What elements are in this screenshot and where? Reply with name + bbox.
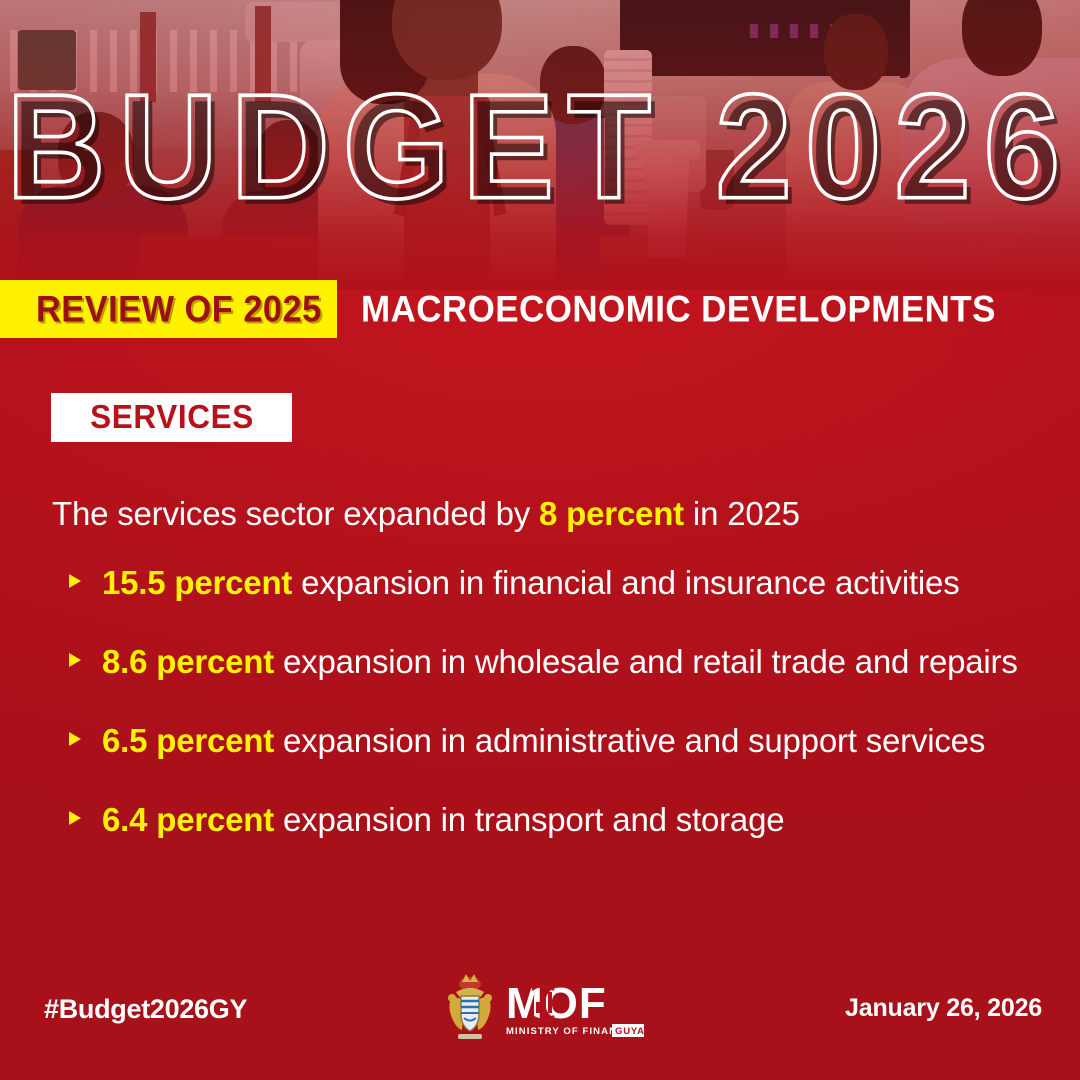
triangle-right-icon xyxy=(68,639,102,668)
footer-date: January 26, 2026 xyxy=(845,994,1042,1023)
list-item-highlight: 8.6 percent xyxy=(102,643,274,680)
footer: #Budget2026GY xyxy=(0,978,1080,1048)
list-item-body: expansion in financial and insurance act… xyxy=(292,564,959,601)
section-badge-label: SERVICES xyxy=(90,399,254,436)
list-item-body: expansion in transport and storage xyxy=(274,801,784,838)
mof-subtitle-guyana: GUYANA xyxy=(615,1026,644,1037)
triangle-right-icon xyxy=(68,718,102,747)
lede-highlight: 8 percent xyxy=(539,495,684,532)
list-item: 8.6 percent expansion in wholesale and r… xyxy=(68,639,1053,686)
lede-text-before: The services sector expanded by xyxy=(52,495,539,532)
triangle-right-icon xyxy=(68,797,102,826)
mof-subtitle: MINISTRY OF FINANCE GUYANA xyxy=(506,1024,644,1037)
list-item: 6.5 percent expansion in administrative … xyxy=(68,718,1053,765)
list-item: 6.4 percent expansion in transport and s… xyxy=(68,797,1053,844)
mof-wordmark: MOF xyxy=(506,979,607,1028)
bullet-list: 15.5 percent expansion in financial and … xyxy=(68,560,1053,875)
list-item: 15.5 percent expansion in financial and … xyxy=(68,560,1053,607)
budget-infographic-poster: BUDGET 2026 REVIEW OF 2025 MACROECONOMIC… xyxy=(0,0,1080,1080)
ministry-of-finance-logo: MOF MINISTRY OF FINANCE GUYANA xyxy=(444,972,644,1054)
list-item-body: expansion in wholesale and retail trade … xyxy=(274,643,1018,680)
lede-text-after: in 2025 xyxy=(684,495,800,532)
section-badge: SERVICES xyxy=(51,393,292,442)
content-area: SERVICES The services sector expanded by… xyxy=(0,0,1080,1080)
list-item-text: 6.5 percent expansion in administrative … xyxy=(102,718,1053,765)
list-item-highlight: 15.5 percent xyxy=(102,564,292,601)
list-item-text: 15.5 percent expansion in financial and … xyxy=(102,560,1053,607)
list-item-text: 6.4 percent expansion in transport and s… xyxy=(102,797,1053,844)
svg-text:MOF: MOF xyxy=(506,979,607,1028)
triangle-right-icon xyxy=(68,560,102,589)
list-item-highlight: 6.4 percent xyxy=(102,801,274,838)
list-item-body: expansion in administrative and support … xyxy=(274,722,985,759)
list-item-text: 8.6 percent expansion in wholesale and r… xyxy=(102,639,1053,686)
hashtag-label: #Budget2026GY xyxy=(44,994,247,1025)
guyana-coat-of-arms-icon xyxy=(448,974,492,1039)
lede-paragraph: The services sector expanded by 8 percen… xyxy=(52,495,1032,533)
list-item-highlight: 6.5 percent xyxy=(102,722,274,759)
